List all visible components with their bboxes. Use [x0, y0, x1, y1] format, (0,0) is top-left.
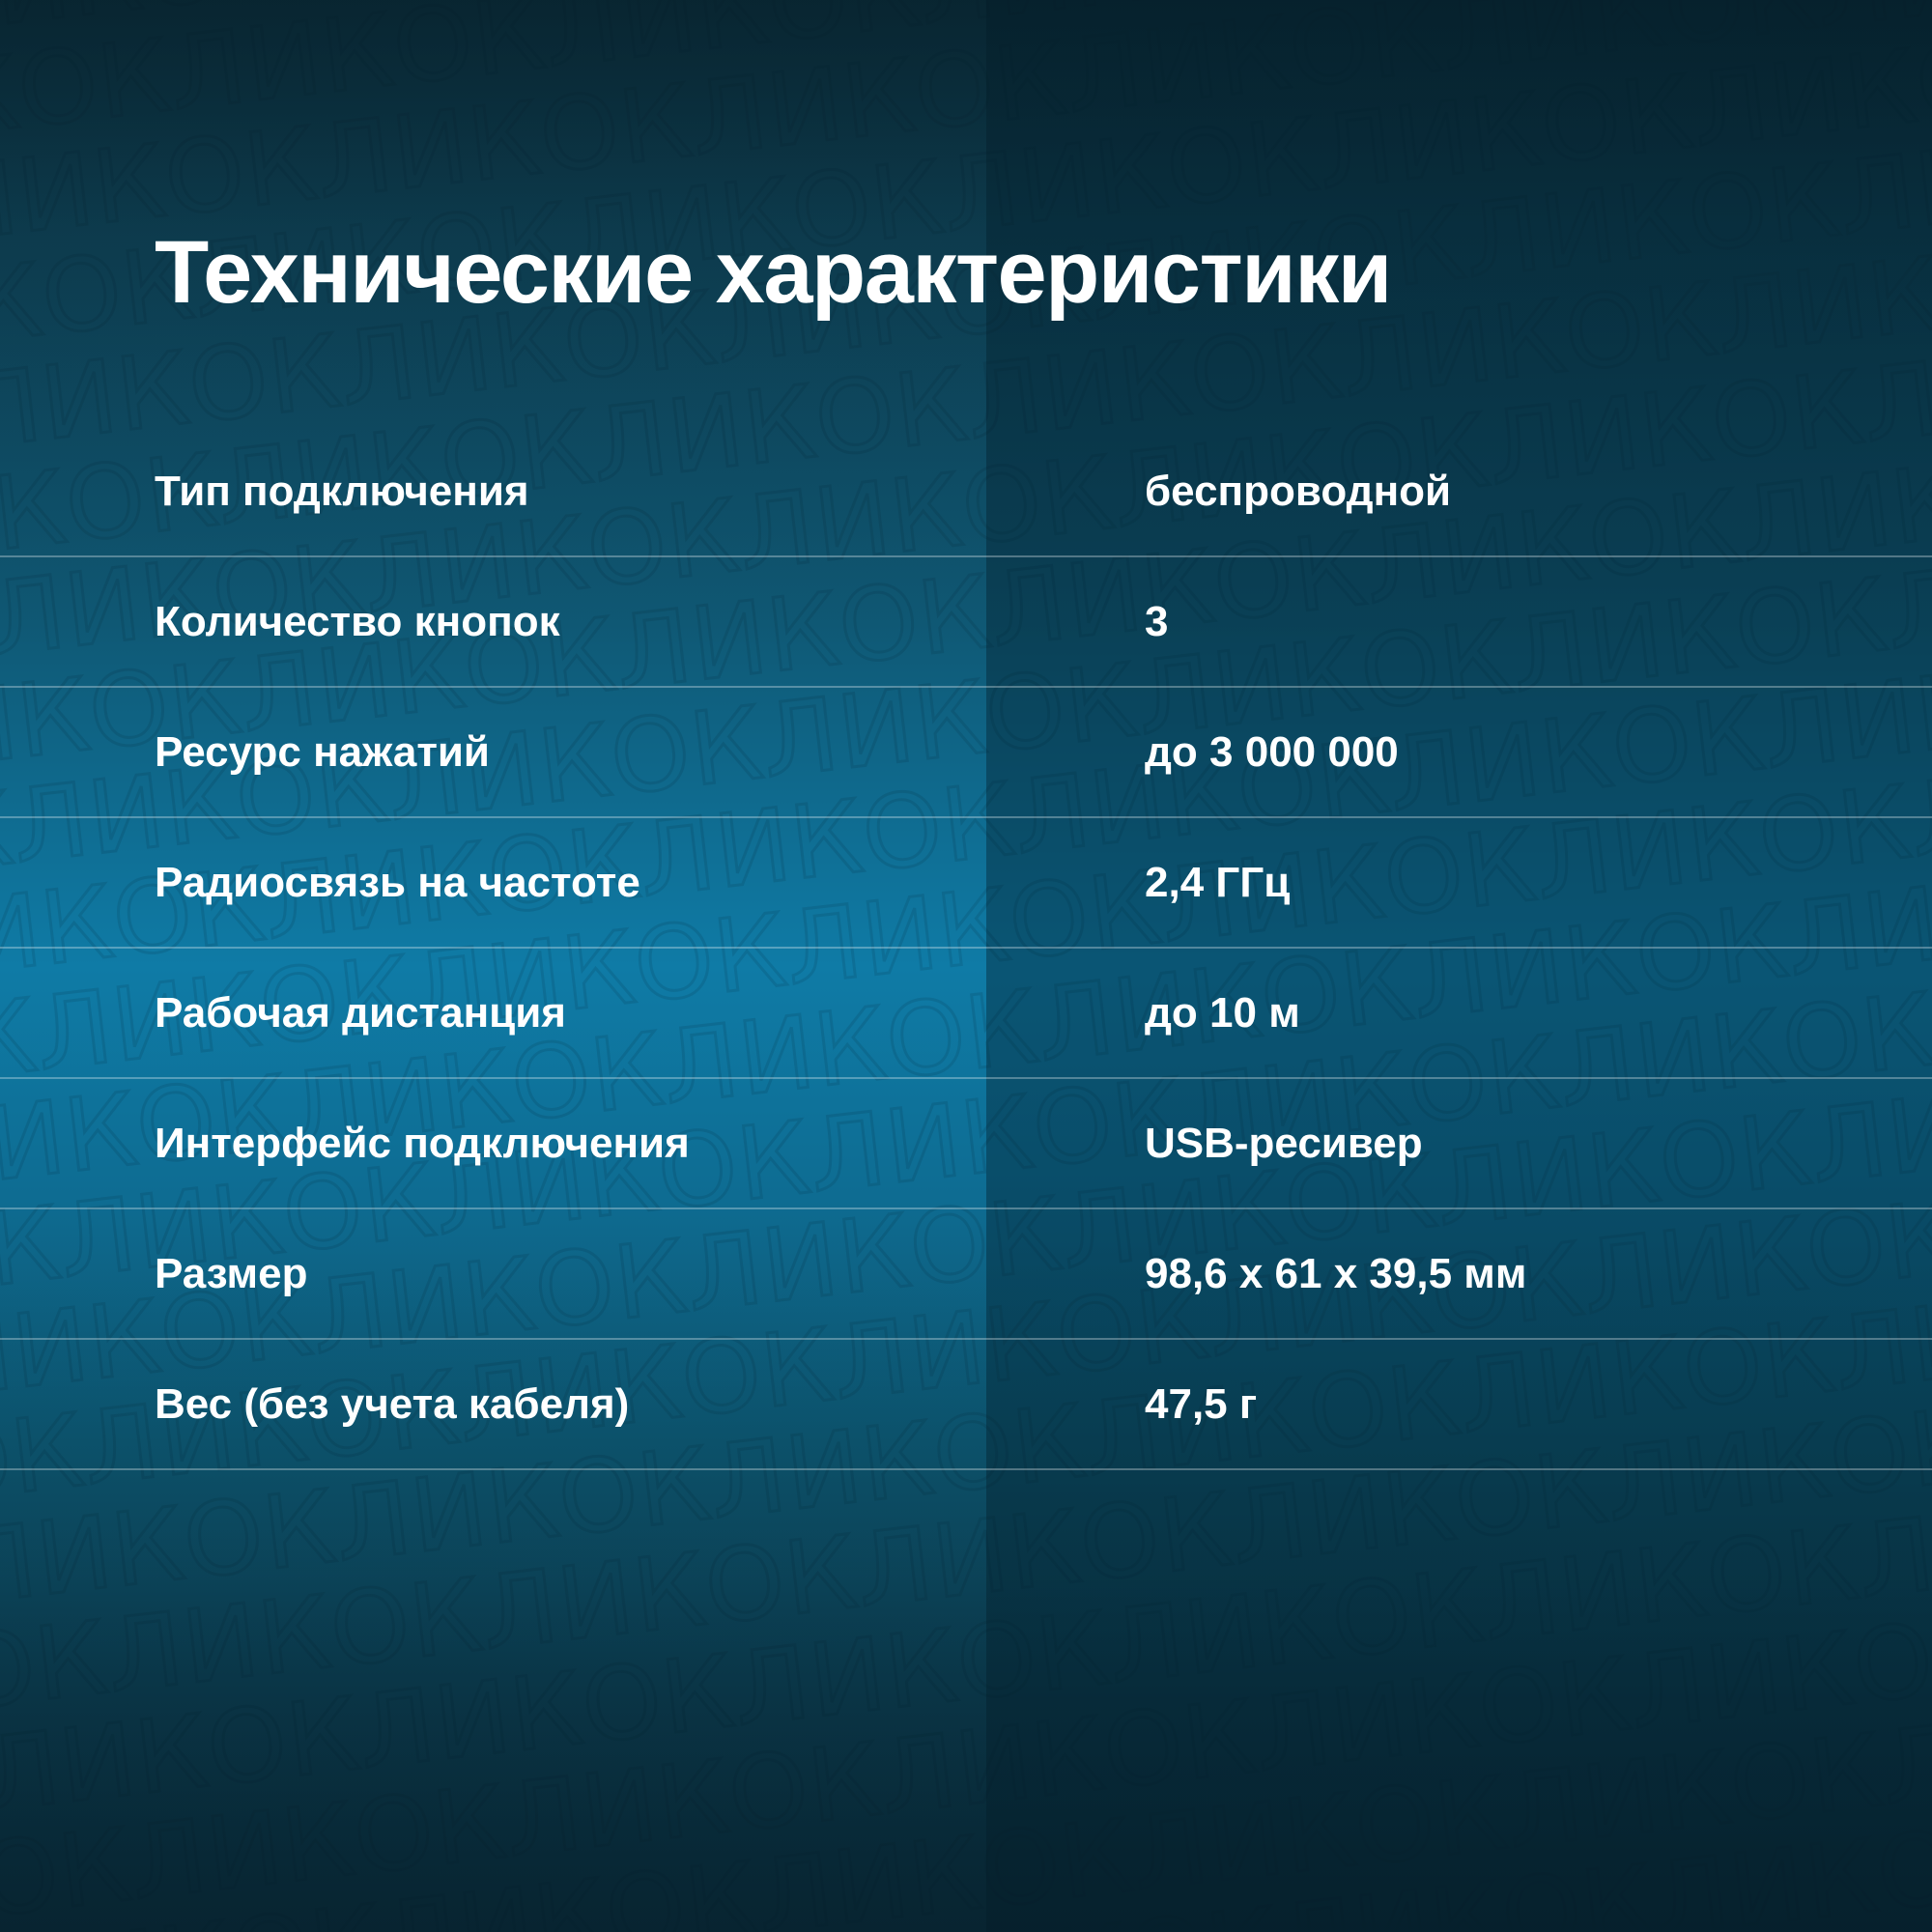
spec-sheet-page: КЛИКОКЛИКОКЛИКОКЛИКОКЛИКОКЛИКОКЛИКОКЛИКО… — [0, 0, 1932, 1932]
spec-value: USB-ресивер — [1145, 1120, 1879, 1168]
table-row: Интерфейс подключенияUSB-ресивер — [0, 1079, 1932, 1209]
spec-label: Размер — [155, 1250, 966, 1298]
table-row: Рабочая дистанциядо 10 м — [0, 949, 1932, 1079]
spec-label: Вес (без учета кабеля) — [155, 1380, 966, 1429]
spec-table: Тип подключениябеспроводнойКоличество кн… — [0, 427, 1932, 1470]
spec-value: до 10 м — [1145, 989, 1879, 1037]
spec-label: Рабочая дистанция — [155, 989, 966, 1037]
spec-value: 2,4 ГГц — [1145, 859, 1879, 907]
page-title: Технические характеристики — [155, 222, 1391, 324]
table-row: Тип подключениябеспроводной — [0, 427, 1932, 557]
spec-value: до 3 000 000 — [1145, 728, 1879, 777]
spec-value: 47,5 г — [1145, 1380, 1879, 1429]
table-row: Вес (без учета кабеля)47,5 г — [0, 1340, 1932, 1470]
table-row: Размер98,6 x 61 x 39,5 мм — [0, 1209, 1932, 1340]
table-row: Ресурс нажатийдо 3 000 000 — [0, 688, 1932, 818]
spec-value: беспроводной — [1145, 468, 1879, 516]
spec-label: Тип подключения — [155, 468, 966, 516]
spec-label: Ресурс нажатий — [155, 728, 966, 777]
spec-value: 3 — [1145, 598, 1879, 646]
table-row: Радиосвязь на частоте2,4 ГГц — [0, 818, 1932, 949]
spec-label: Радиосвязь на частоте — [155, 859, 966, 907]
spec-label: Интерфейс подключения — [155, 1120, 966, 1168]
table-row: Количество кнопок3 — [0, 557, 1932, 688]
spec-value: 98,6 x 61 x 39,5 мм — [1145, 1250, 1879, 1298]
page-content: Технические характеристики Тип подключен… — [0, 0, 1932, 1932]
spec-label: Количество кнопок — [155, 598, 966, 646]
